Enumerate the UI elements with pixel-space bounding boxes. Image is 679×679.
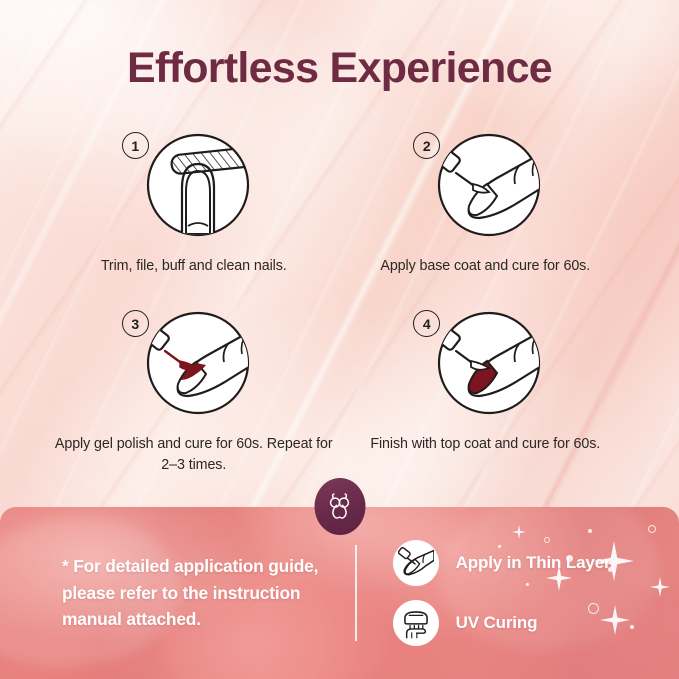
step-illustration-wrap: 1 (114, 126, 274, 244)
feature-label: Apply in Thin Layer (456, 553, 611, 573)
brand-loop-logo-icon (326, 492, 354, 522)
feature-icon-circle (393, 600, 439, 646)
feature-icon-circle (393, 540, 439, 586)
base-coat-brush-icon (427, 126, 551, 244)
step-item: 4 Finish (340, 304, 632, 475)
step-illustration-wrap: 4 (405, 304, 565, 422)
step-caption: Apply gel polish and cure for 60s. Repea… (48, 434, 340, 475)
step-illustration-wrap: 3 (114, 304, 274, 422)
step-item: 1 (48, 126, 340, 276)
step-caption: Finish with top coat and cure for 60s. (340, 434, 632, 454)
page-title: Effortless Experience (0, 44, 679, 93)
banner-divider (355, 545, 357, 641)
infographic-page: Effortless Experience 1 (0, 0, 679, 679)
thin-layer-brush-icon (398, 545, 434, 581)
feature-list: Apply in Thin Layer (393, 540, 611, 646)
nail-file-icon (136, 126, 260, 244)
brand-logo-badge (314, 478, 365, 535)
step-number-badge: 1 (122, 132, 149, 159)
instruction-note: * For detailed application guide, please… (0, 553, 355, 632)
gel-polish-brush-icon (136, 304, 260, 422)
feature-label: UV Curing (456, 613, 538, 633)
step-caption: Apply base coat and cure for 60s. (340, 256, 632, 276)
step-item: 2 (340, 126, 632, 276)
top-coat-brush-icon (427, 304, 551, 422)
uv-lamp-icon (399, 606, 433, 640)
feature-item: UV Curing (393, 600, 611, 646)
step-illustration-wrap: 2 (405, 126, 565, 244)
step-number-badge: 3 (122, 310, 149, 337)
feature-item: Apply in Thin Layer (393, 540, 611, 586)
steps-grid: 1 (48, 126, 631, 475)
step-caption: Trim, file, buff and clean nails. (48, 256, 340, 276)
step-item: 3 (48, 304, 340, 475)
